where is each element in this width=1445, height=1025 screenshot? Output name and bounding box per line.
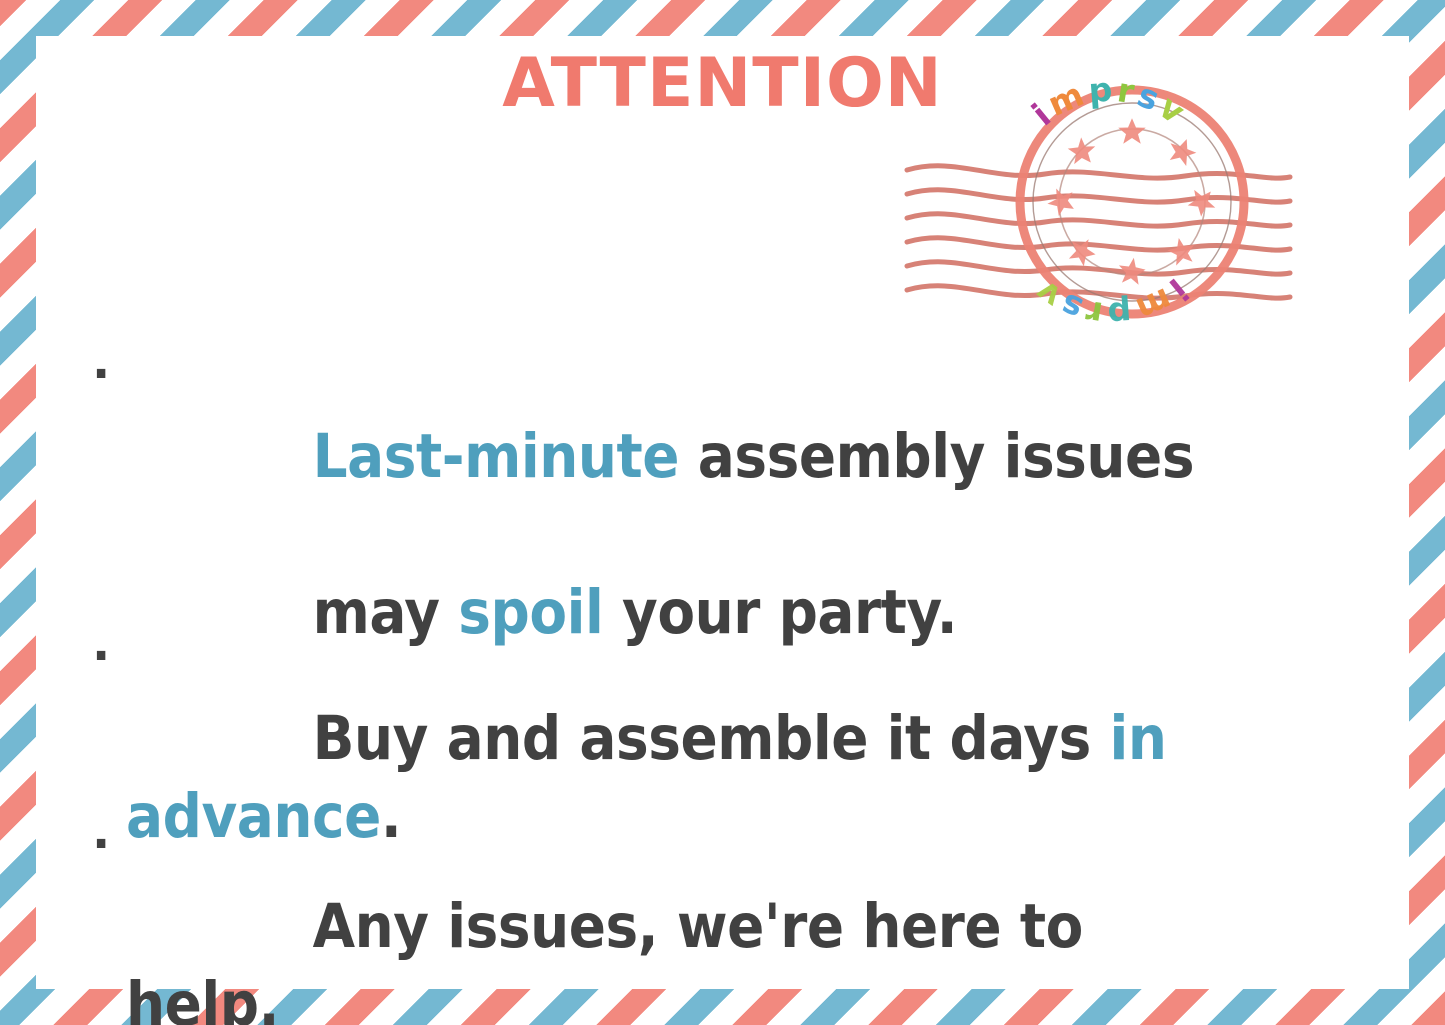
bullet-marker: · <box>92 622 126 692</box>
postmark-brand-top: imprsv <box>1025 78 1195 133</box>
bullet-text: Any issues, we're here to help. <box>126 810 1220 1025</box>
attention-card: ATTENTION <box>0 0 1445 1025</box>
bullet-plain: assembly issues <box>698 421 1194 492</box>
bullet-highlight: Last-minute <box>313 421 698 492</box>
bullet-plain: Buy and assemble it days <box>313 703 1110 774</box>
cancellation-waves <box>907 166 1290 298</box>
bullet-marker: · <box>92 810 126 880</box>
list-item: · Any issues, we're here to help. <box>92 810 1342 1025</box>
bullet-marker: · <box>92 340 126 410</box>
postmark-brand-bottom: imprsv <box>1026 271 1196 328</box>
postmark-stamp: imprsv imprsv <box>895 78 1370 328</box>
bullet-plain: Any issues, we're here to help. <box>126 891 1102 1025</box>
card-content: ATTENTION <box>0 0 1445 1025</box>
